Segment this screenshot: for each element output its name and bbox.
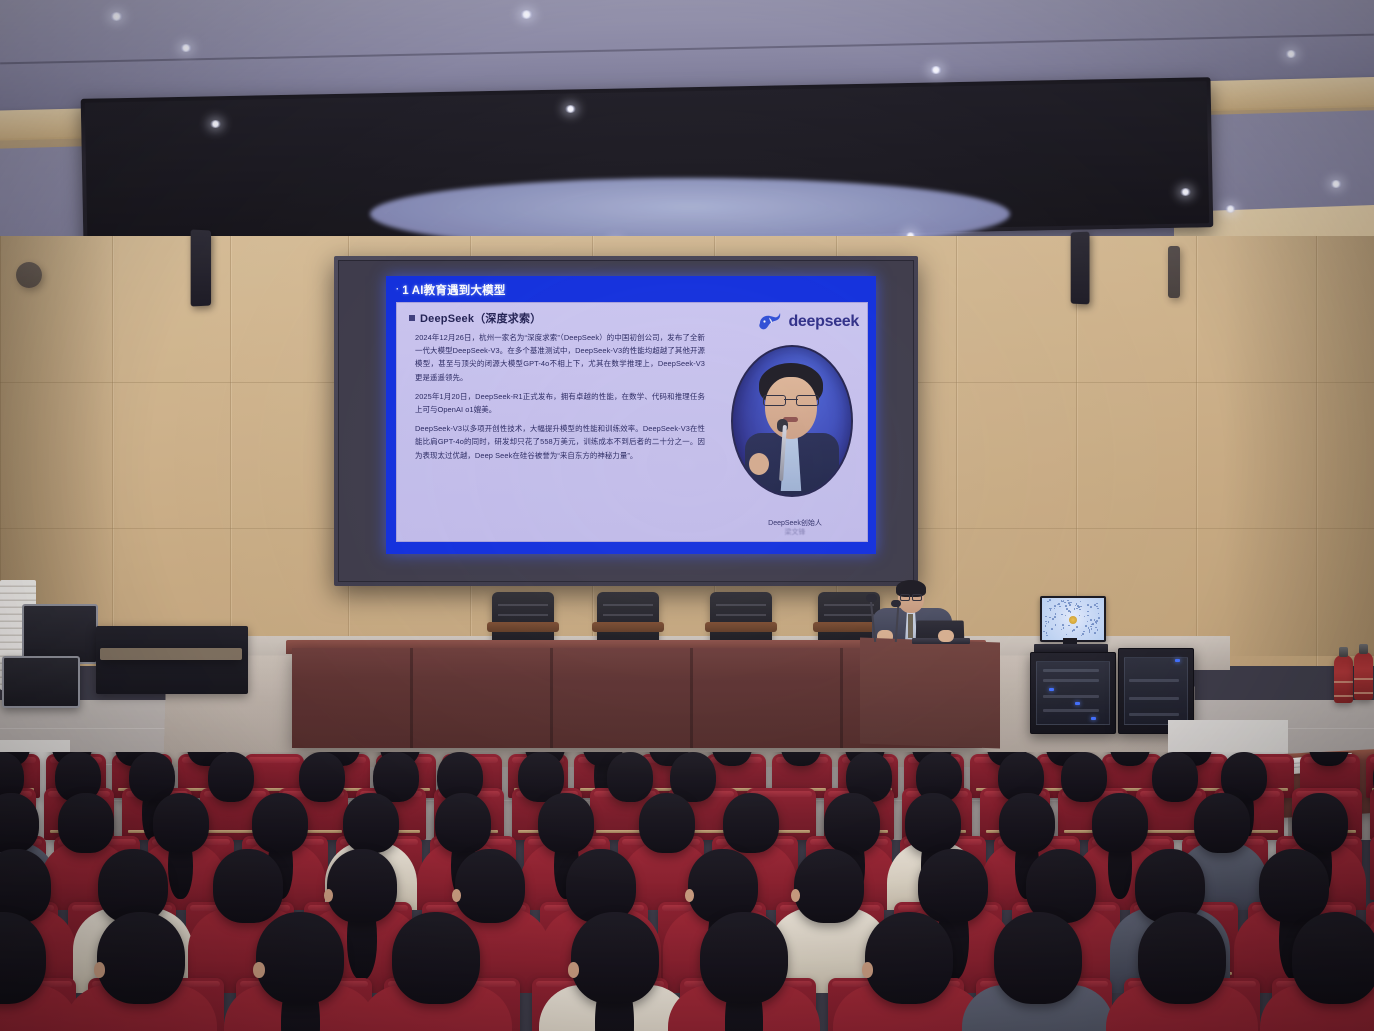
audience-member-head [1138, 912, 1226, 1004]
chair [710, 592, 772, 644]
audience-member-head [566, 849, 636, 923]
audience-member-head [538, 793, 594, 853]
av-screen-dot [1076, 608, 1078, 610]
audience-member-head [865, 912, 953, 1004]
av-screen-dot [1090, 619, 1092, 621]
audience-member-head [607, 752, 653, 802]
slide-paragraph: 2025年1月20日，DeepSeek-R1正式发布，拥有卓越的性能，在数学、代… [415, 390, 705, 416]
av-screen-dot [1067, 600, 1069, 602]
portrait-caption-name: 梁文锋 [739, 528, 851, 537]
av-screen-dot [1085, 625, 1087, 627]
microphone-head-2 [891, 600, 901, 607]
glasses-icon [763, 395, 819, 404]
av-screen-dot [1078, 606, 1080, 608]
av-screen-dot [1047, 601, 1049, 603]
av-screen-dot [1080, 606, 1082, 608]
av-screen-dot [1079, 615, 1081, 617]
audience-member-head [905, 793, 961, 853]
audience-member-head [1152, 752, 1198, 802]
audience-member-head [824, 793, 880, 853]
audience-member-head [252, 793, 308, 853]
led-screen: ·1 AI教育遇到大模型 DeepSeek（深度求索） 2024年12月26日，… [334, 256, 918, 586]
slide-title: ·1 AI教育遇到大模型 [396, 282, 506, 298]
audience-member-head [1092, 793, 1148, 853]
av-screen-dot [1097, 629, 1099, 631]
audience-member-head [256, 912, 344, 1004]
av-screen-dot [1066, 634, 1068, 636]
audience-member-head [392, 912, 480, 1004]
audience-member-head [343, 793, 399, 853]
slide-paragraph: DeepSeek-V3以多项开创性技术，大幅提升模型的性能和训练效率。DeepS… [415, 422, 705, 462]
downlight [565, 105, 576, 113]
av-screen-dot [1096, 622, 1098, 624]
av-screen-dot [1050, 609, 1052, 611]
downlight [210, 120, 221, 128]
slide-subheading-text: DeepSeek（深度求索） [420, 313, 541, 325]
av-screen-dot [1062, 601, 1064, 603]
slide-title-text: 1 AI教育遇到大模型 [402, 285, 505, 297]
av-screen-dot [1070, 611, 1072, 613]
av-screen-dot [1054, 605, 1056, 607]
audience-member-head [1259, 849, 1329, 923]
audience-member-head [1292, 912, 1374, 1004]
av-screen-dot [1063, 627, 1065, 629]
av-screen-dot [1081, 635, 1083, 637]
audience-member-head [1194, 793, 1250, 853]
av-screen-dot [1097, 608, 1099, 610]
av-screen-dot [1061, 629, 1063, 631]
deepseek-logo: deepseek [699, 307, 859, 337]
fire-extinguisher [1354, 652, 1373, 700]
auditorium-photo: ·1 AI教育遇到大模型 DeepSeek（深度求索） 2024年12月26日，… [0, 0, 1374, 1031]
av-screen-dot [1058, 603, 1060, 605]
av-screen-dot [1068, 625, 1070, 627]
av-screen-dot [1046, 623, 1048, 625]
equipment-box-gap [100, 648, 242, 660]
av-screen-dot [1052, 618, 1054, 620]
audience-member-head [327, 849, 397, 923]
presenter-glasses-icon [900, 594, 922, 599]
av-screen-dot [1070, 602, 1072, 604]
auditorium-seat [1370, 788, 1374, 840]
av-screen-dot [1055, 624, 1057, 626]
wall-speaker-right [1071, 232, 1090, 305]
av-screen-dot [1049, 617, 1051, 619]
av-screen-dot [1074, 608, 1076, 610]
av-rack-left [1030, 652, 1116, 734]
audience-member-head [999, 793, 1055, 853]
av-screen-dot [1094, 604, 1096, 606]
audience-member-head [918, 849, 988, 923]
presentation-slide: ·1 AI教育遇到大模型 DeepSeek（深度求索） 2024年12月26日，… [386, 276, 876, 554]
presenter-hand-right [938, 630, 954, 642]
audience-member-head [213, 849, 283, 923]
audience-member-ear [791, 889, 800, 902]
av-screen-dot [1055, 613, 1057, 615]
av-screen-dot [1051, 628, 1053, 630]
portrait-caption-role: DeepSeek创始人 [739, 519, 851, 528]
conference-table-right-section [860, 638, 1000, 749]
square-bullet-icon [409, 315, 415, 321]
audience-member-head [1061, 752, 1107, 802]
equipment-box [96, 626, 248, 694]
av-monitor-screen [1042, 598, 1104, 640]
av-control-monitor [1040, 596, 1106, 642]
av-screen-dot [1079, 609, 1081, 611]
slide-paragraphs: 2024年12月26日，杭州一家名为“深度求索”（DeepSeek）的中国初创公… [415, 331, 705, 468]
deepseek-wordmark: deepseek [788, 313, 859, 331]
audience-member-head [97, 912, 185, 1004]
slide-title-bullet: · [396, 284, 399, 294]
av-screen-dot [1096, 603, 1098, 605]
av-screen-dot [1083, 631, 1085, 633]
audience-member-ear [452, 889, 461, 902]
av-screen-dot [1043, 631, 1045, 633]
downlight [1225, 205, 1236, 213]
av-screen-dot [1084, 616, 1086, 618]
av-screen-dot [1046, 632, 1048, 634]
audience-member-head [571, 912, 659, 1004]
slide-content-panel: DeepSeek（深度求索） 2024年12月26日，杭州一家名为“深度求索”（… [396, 302, 868, 542]
audience-member-head [994, 912, 1082, 1004]
audience-member-ear [324, 889, 333, 902]
audience-member-head [639, 793, 695, 853]
audience-member-head [1292, 793, 1348, 853]
audience-member-head [153, 793, 209, 853]
av-monitor-logo-icon [1069, 616, 1077, 624]
av-screen-dot [1087, 615, 1089, 617]
presenter-tie [908, 614, 913, 638]
downlight [520, 10, 533, 19]
founder-portrait [731, 345, 853, 497]
av-screen-dot [1065, 605, 1067, 607]
audience-member-ear [253, 962, 264, 978]
flight-case [2, 656, 80, 708]
av-screen-dot [1046, 635, 1048, 637]
audience-member-head [58, 793, 114, 853]
audience-member-ear [94, 962, 105, 978]
av-screen-dot [1089, 631, 1091, 633]
av-screen-dot [1076, 626, 1078, 628]
av-screen-dot [1090, 606, 1092, 608]
av-screen-dot [1064, 602, 1066, 604]
av-screen-dot [1091, 628, 1093, 630]
audience-member-head [794, 849, 864, 923]
portrait-caption: DeepSeek创始人 梁文锋 [739, 519, 851, 537]
fire-extinguisher [1334, 655, 1353, 703]
av-screen-dot [1049, 599, 1051, 601]
audience-member-head [455, 849, 525, 923]
audience-member-head [435, 793, 491, 853]
chair [492, 592, 554, 644]
av-screen-dot [1095, 627, 1097, 629]
downlight [110, 12, 123, 21]
av-screen-dot [1059, 606, 1061, 608]
audience [0, 752, 1374, 1031]
av-screen-dot [1048, 621, 1050, 623]
audience-member-head [1135, 849, 1205, 923]
wall-fixture-left [16, 262, 42, 288]
av-screen-dot [1098, 617, 1100, 619]
whale-icon [757, 312, 783, 332]
av-screen-dot [1087, 604, 1089, 606]
av-screen-dot [1098, 613, 1100, 615]
chair [597, 592, 659, 644]
audience-member-head [700, 912, 788, 1004]
slide-subheading: DeepSeek（深度求索） [409, 310, 541, 326]
av-screen-dot [1045, 625, 1047, 627]
audience-member-head [208, 752, 254, 802]
av-screen-dot [1045, 621, 1047, 623]
av-screen-dot [1045, 616, 1047, 618]
av-screen-dot [1093, 624, 1095, 626]
av-screen-dot [1087, 621, 1089, 623]
av-screen-dot [1054, 608, 1056, 610]
av-screen-dot [1096, 620, 1098, 622]
av-screen-dot [1094, 632, 1096, 634]
wall-shadow-right [1224, 236, 1374, 656]
av-screen-dot [1062, 624, 1064, 626]
audience-member-head [723, 793, 779, 853]
wall-speaker-right-2 [1168, 246, 1180, 298]
flight-case-lid [22, 604, 98, 664]
av-screen-dot [1087, 611, 1089, 613]
av-screen-dot [1061, 614, 1063, 616]
microphone-head-1 [866, 594, 877, 602]
auditorium-seat [1370, 836, 1374, 900]
av-screen-dot [1065, 615, 1067, 617]
av-screen-dot [1054, 616, 1056, 618]
av-screen-dot [1080, 601, 1082, 603]
slide-paragraph: 2024年12月26日，杭州一家名为“深度求索”（DeepSeek）的中国初创公… [415, 331, 705, 384]
audience-member-head [299, 752, 345, 802]
downlight [1180, 188, 1191, 196]
av-screen-dot [1073, 629, 1075, 631]
av-screen-dot [1082, 633, 1084, 635]
av-screen-dot [1069, 604, 1071, 606]
wall-speaker-left [191, 229, 211, 306]
